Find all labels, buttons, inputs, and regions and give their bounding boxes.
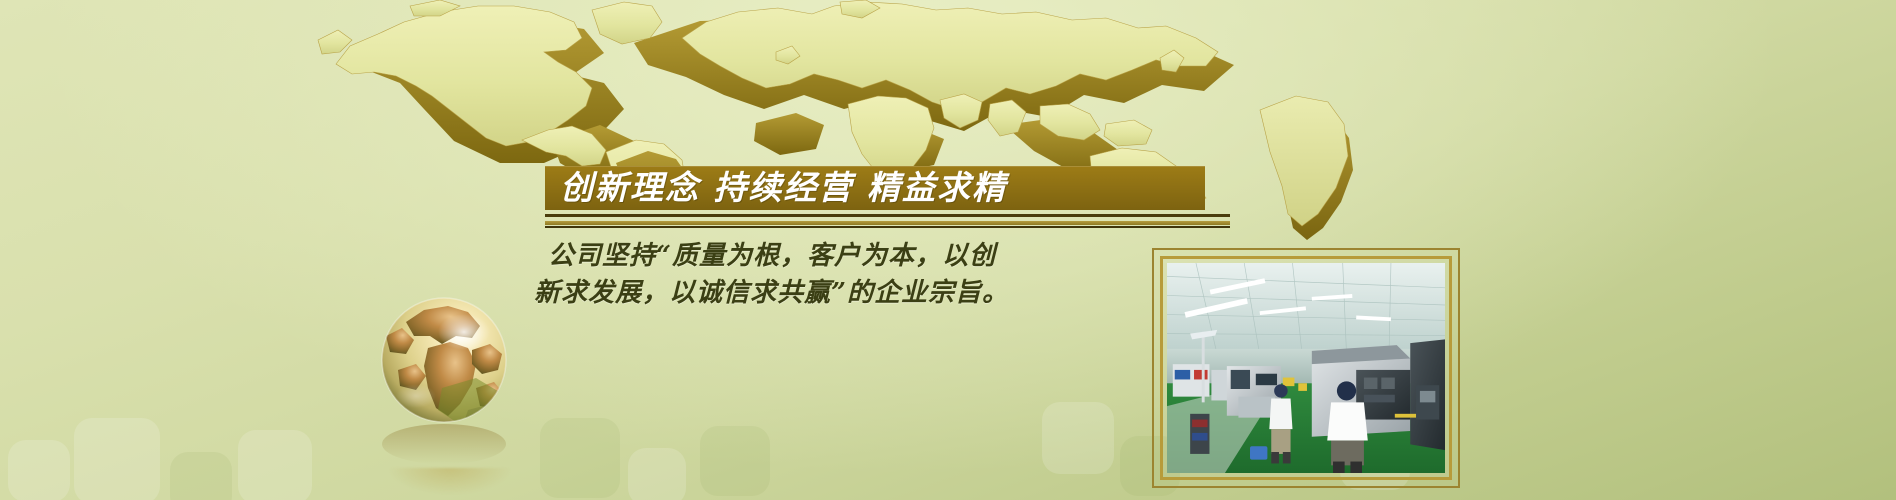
- south-america-graphic: [1232, 90, 1412, 240]
- factory-photo: [1167, 263, 1445, 473]
- photo-frame-inner: [1160, 256, 1452, 480]
- paragraph-line-1: 公司坚持“质量为根，客户为本，以创: [548, 238, 1168, 275]
- watermark-square: [700, 426, 770, 496]
- watermark-square: [74, 418, 160, 500]
- divider-rule-gold: [545, 221, 1230, 225]
- globe-reflection: [390, 468, 510, 494]
- divider-rule-dark-2: [545, 226, 1230, 228]
- photo-frame-outer: [1152, 248, 1460, 488]
- watermark-square: [238, 430, 312, 500]
- watermark-square: [170, 452, 232, 500]
- watermark-square: [540, 418, 620, 498]
- headline-slogan: 创新理念 持续经营 精益求精: [560, 166, 1200, 210]
- corporate-banner: 创新理念 持续经营 精益求精 公司坚持“质量为根，客户为本，以创 新求发展，以诚…: [0, 0, 1896, 500]
- paragraph-line-2: 新求发展，以诚信求共赢”的企业宗旨。: [534, 275, 1168, 312]
- watermark-square: [1042, 402, 1114, 474]
- globe-graphic: [372, 292, 532, 477]
- divider-rule-dark: [545, 214, 1230, 217]
- watermark-square: [628, 448, 686, 500]
- watermark-square: [8, 440, 70, 500]
- company-philosophy-paragraph: 公司坚持“质量为根，客户为本，以创 新求发展，以诚信求共赢”的企业宗旨。: [548, 238, 1168, 312]
